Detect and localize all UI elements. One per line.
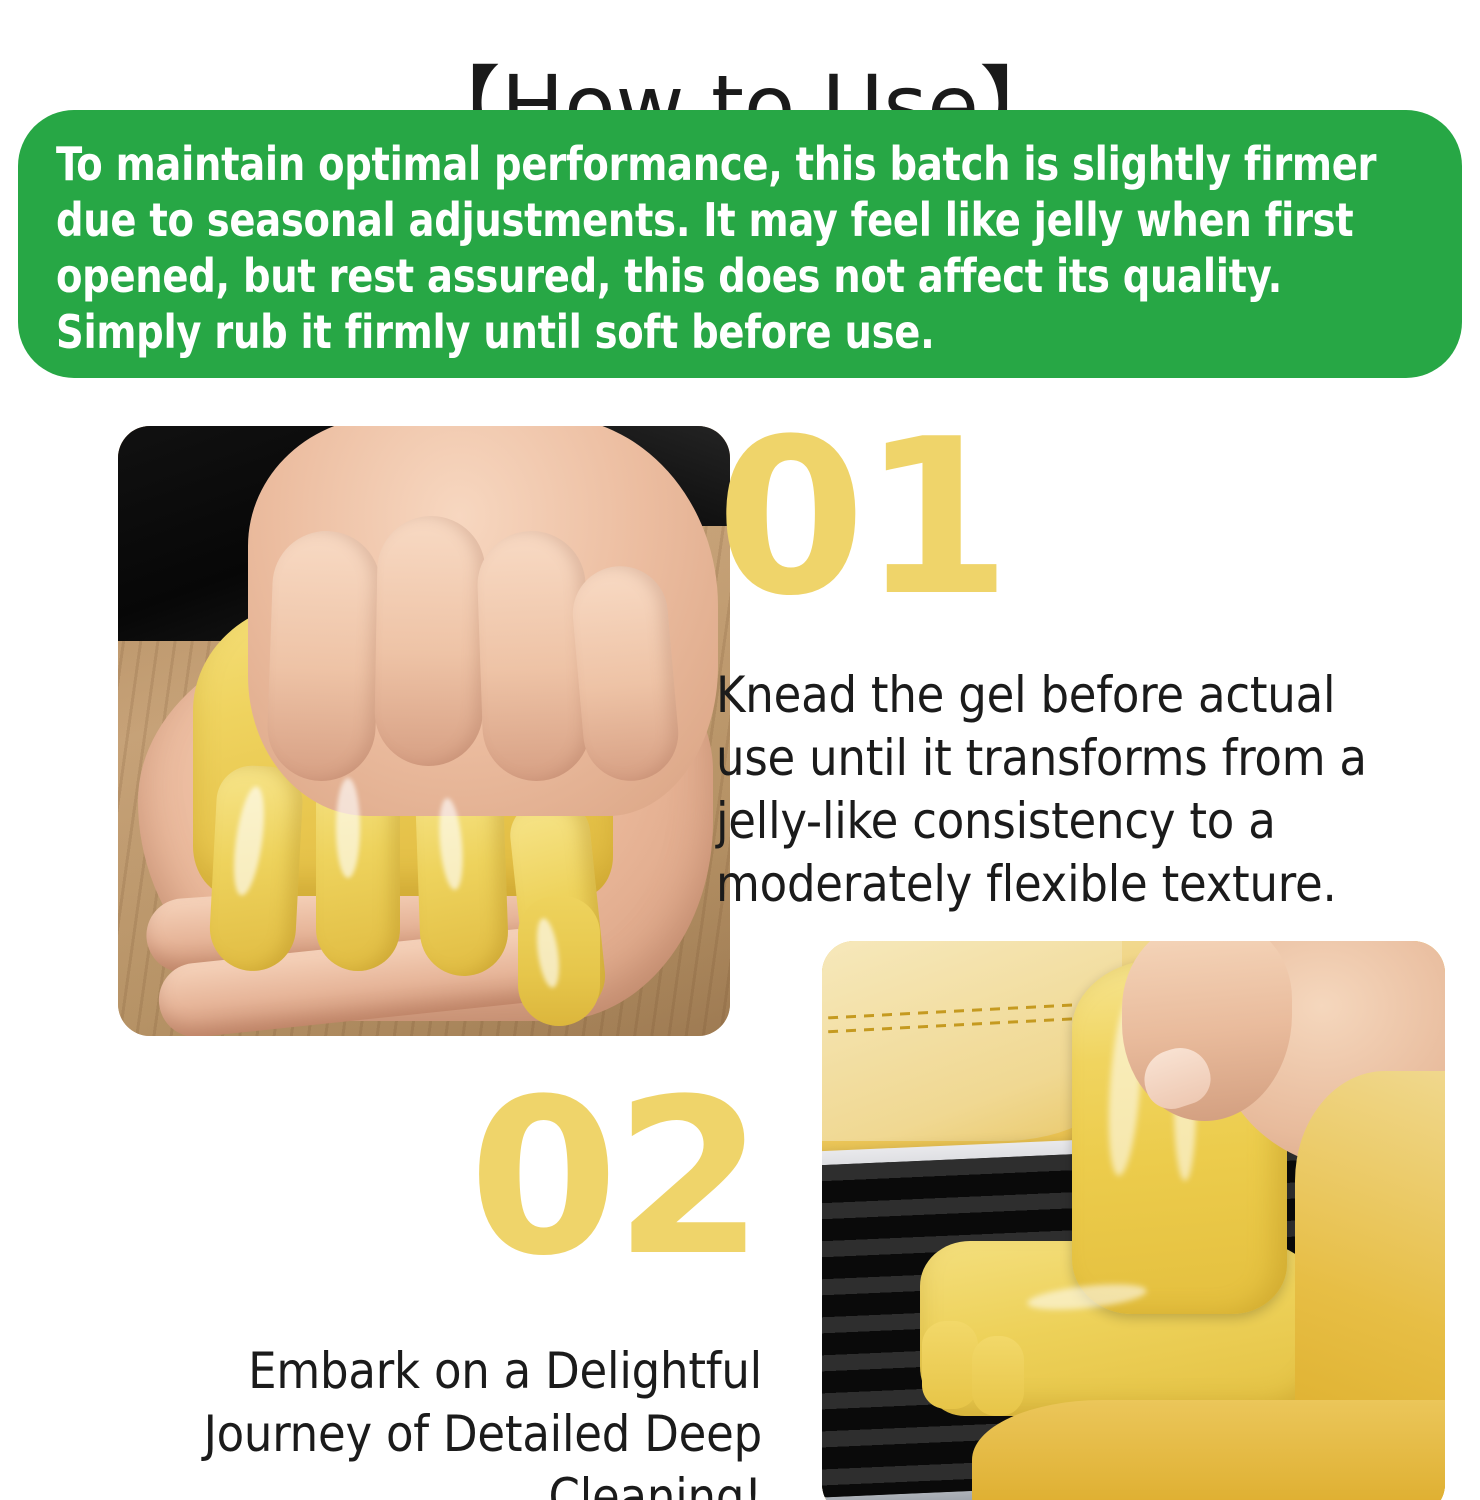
gel-finger	[972, 1336, 1024, 1416]
finger-knuckle	[476, 529, 593, 783]
step-1-number: 01	[716, 418, 1007, 618]
step-2-number: 02	[260, 1078, 760, 1278]
finger-knuckle	[266, 529, 383, 783]
how-to-use-infographic: 【How to Use】 To maintain optimal perform…	[0, 0, 1480, 1500]
finger-knuckle	[374, 515, 486, 767]
step-1-description: Knead the gel before actual use until it…	[716, 664, 1406, 916]
gel-highlight	[336, 778, 360, 878]
step-2-description: Embark on a Delightful Journey of Detail…	[120, 1340, 762, 1500]
notice-banner-text: To maintain optimal performance, this ba…	[56, 136, 1428, 360]
photo-scene	[118, 426, 730, 1036]
step-1-photo-kneading-gel	[118, 426, 730, 1036]
notice-banner: To maintain optimal performance, this ba…	[18, 110, 1462, 378]
gel-finger	[922, 1321, 978, 1409]
step-2-photo-cleaning-car-vent	[822, 941, 1445, 1500]
dashboard-lower-panel	[972, 1400, 1445, 1500]
